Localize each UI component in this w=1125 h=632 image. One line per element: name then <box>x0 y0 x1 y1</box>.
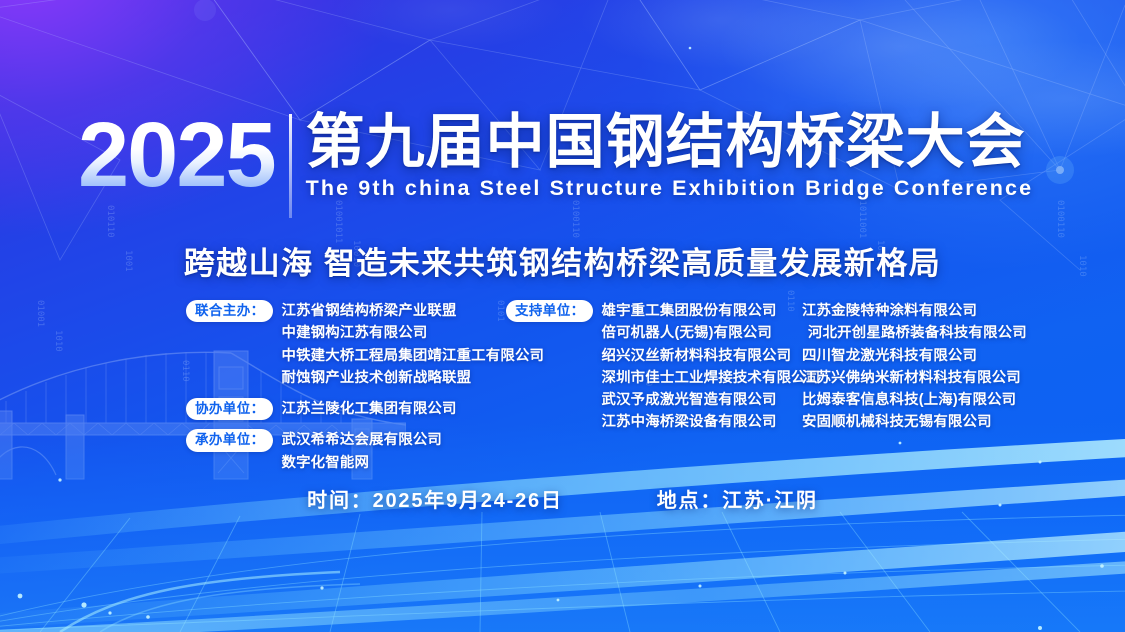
organizer-group: 承办单位： 武汉希希达会展有限公司 数字化智能网 <box>186 429 544 474</box>
organizer-column-left: 联合主办： 江苏省钢结构桥梁产业联盟 中建钢构江苏有限公司 中铁建大桥工程局集团… <box>186 300 544 477</box>
organizer-line: 数字化智能网 <box>282 452 443 474</box>
organizer-line: 河北开创星路桥装备科技有限公司 <box>802 322 1027 344</box>
organizer-group: 支持单位： 雄宇重工集团股份有限公司 倍可机器人(无锡)有限公司 绍兴汉丝新材料… <box>506 300 820 434</box>
organizer-line: 江苏中海桥梁设备有限公司 <box>602 411 821 433</box>
organizer-lines: 雄宇重工集团股份有限公司 倍可机器人(无锡)有限公司 绍兴汉丝新材料科技有限公司… <box>602 300 821 434</box>
organizer-group: 协办单位： 江苏兰陵化工集团有限公司 <box>186 398 544 420</box>
conference-slogan: 跨越山海 智造未来共筑钢结构桥梁高质量发展新格局 <box>0 238 1125 283</box>
pill-label-supporter: 支持单位： <box>506 300 593 322</box>
organizer-line: 武汉希希达会展有限公司 <box>282 429 443 451</box>
title-row: 2025 第九届中国钢结构桥梁大会 The 9th china Steel St… <box>78 112 1033 218</box>
organizer-line: 中建钢构江苏有限公司 <box>282 322 545 344</box>
title-divider <box>289 114 292 218</box>
organizer-line: 中铁建大桥工程局集团靖江重工有限公司 <box>282 345 545 367</box>
organizer-lines: 江苏兰陵化工集团有限公司 <box>282 398 457 420</box>
organizer-line: 比姆泰客信息科技(上海)有限公司 <box>802 389 1027 411</box>
organizer-lines: 武汉希希达会展有限公司 数字化智能网 <box>282 429 443 474</box>
event-location: 地点：江苏·江阴 <box>657 484 818 513</box>
organizer-group: 江苏金陵特种涂料有限公司 河北开创星路桥装备科技有限公司 四川智龙激光科技有限公… <box>802 300 1027 434</box>
pill-label-co-host: 联合主办： <box>186 300 273 322</box>
organizer-line: 倍可机器人(无锡)有限公司 <box>602 322 821 344</box>
organizer-column-middle: 支持单位： 雄宇重工集团股份有限公司 倍可机器人(无锡)有限公司 绍兴汉丝新材料… <box>506 300 820 437</box>
organizer-line: 武汉予成激光智造有限公司 <box>602 389 821 411</box>
organizer-line: 四川智龙激光科技有限公司 <box>802 345 1027 367</box>
footer-info: 时间：2025年9月24-26日 地点：江苏·江阴 <box>0 484 1125 513</box>
organizer-lines: 江苏金陵特种涂料有限公司 河北开创星路桥装备科技有限公司 四川智龙激光科技有限公… <box>802 300 1027 434</box>
conference-banner: 01001 1010 010110 1001 0110 01001011 100… <box>0 0 1125 632</box>
organizer-column-right: 江苏金陵特种涂料有限公司 河北开创星路桥装备科技有限公司 四川智龙激光科技有限公… <box>802 300 1027 437</box>
organizer-line: 绍兴汉丝新材料科技有限公司 <box>602 345 821 367</box>
pill-label-co-organizer: 协办单位： <box>186 398 273 420</box>
organizer-line: 雄宇重工集团股份有限公司 <box>602 300 821 322</box>
organizer-line: 江苏金陵特种涂料有限公司 <box>802 300 1027 322</box>
organizers-section: 联合主办： 江苏省钢结构桥梁产业联盟 中建钢构江苏有限公司 中铁建大桥工程局集团… <box>0 300 1125 450</box>
organizer-line: 江苏兰陵化工集团有限公司 <box>282 398 457 420</box>
pill-label-undertaker: 承办单位： <box>186 429 273 451</box>
organizer-line: 江苏省钢结构桥梁产业联盟 <box>282 300 545 322</box>
organizer-line: 耐蚀钢产业技术创新战略联盟 <box>282 367 545 389</box>
conference-title-cn: 第九届中国钢结构桥梁大会 <box>306 112 1033 172</box>
organizer-line: 江苏兴佛纳米新材料科技有限公司 <box>802 367 1027 389</box>
year-number: 2025 <box>78 112 289 199</box>
organizer-group: 联合主办： 江苏省钢结构桥梁产业联盟 中建钢构江苏有限公司 中铁建大桥工程局集团… <box>186 300 544 389</box>
organizer-lines: 江苏省钢结构桥梁产业联盟 中建钢构江苏有限公司 中铁建大桥工程局集团靖江重工有限… <box>282 300 545 389</box>
organizer-line: 深圳市佳士工业焊接技术有限公司 <box>602 367 821 389</box>
conference-title-en: The 9th china Steel Structure Exhibition… <box>306 176 1033 201</box>
event-date: 时间：2025年9月24-26日 <box>307 484 563 513</box>
title-block: 第九届中国钢结构桥梁大会 The 9th china Steel Structu… <box>306 112 1033 201</box>
organizer-line: 安固顺机械科技无锡有限公司 <box>802 411 1027 433</box>
